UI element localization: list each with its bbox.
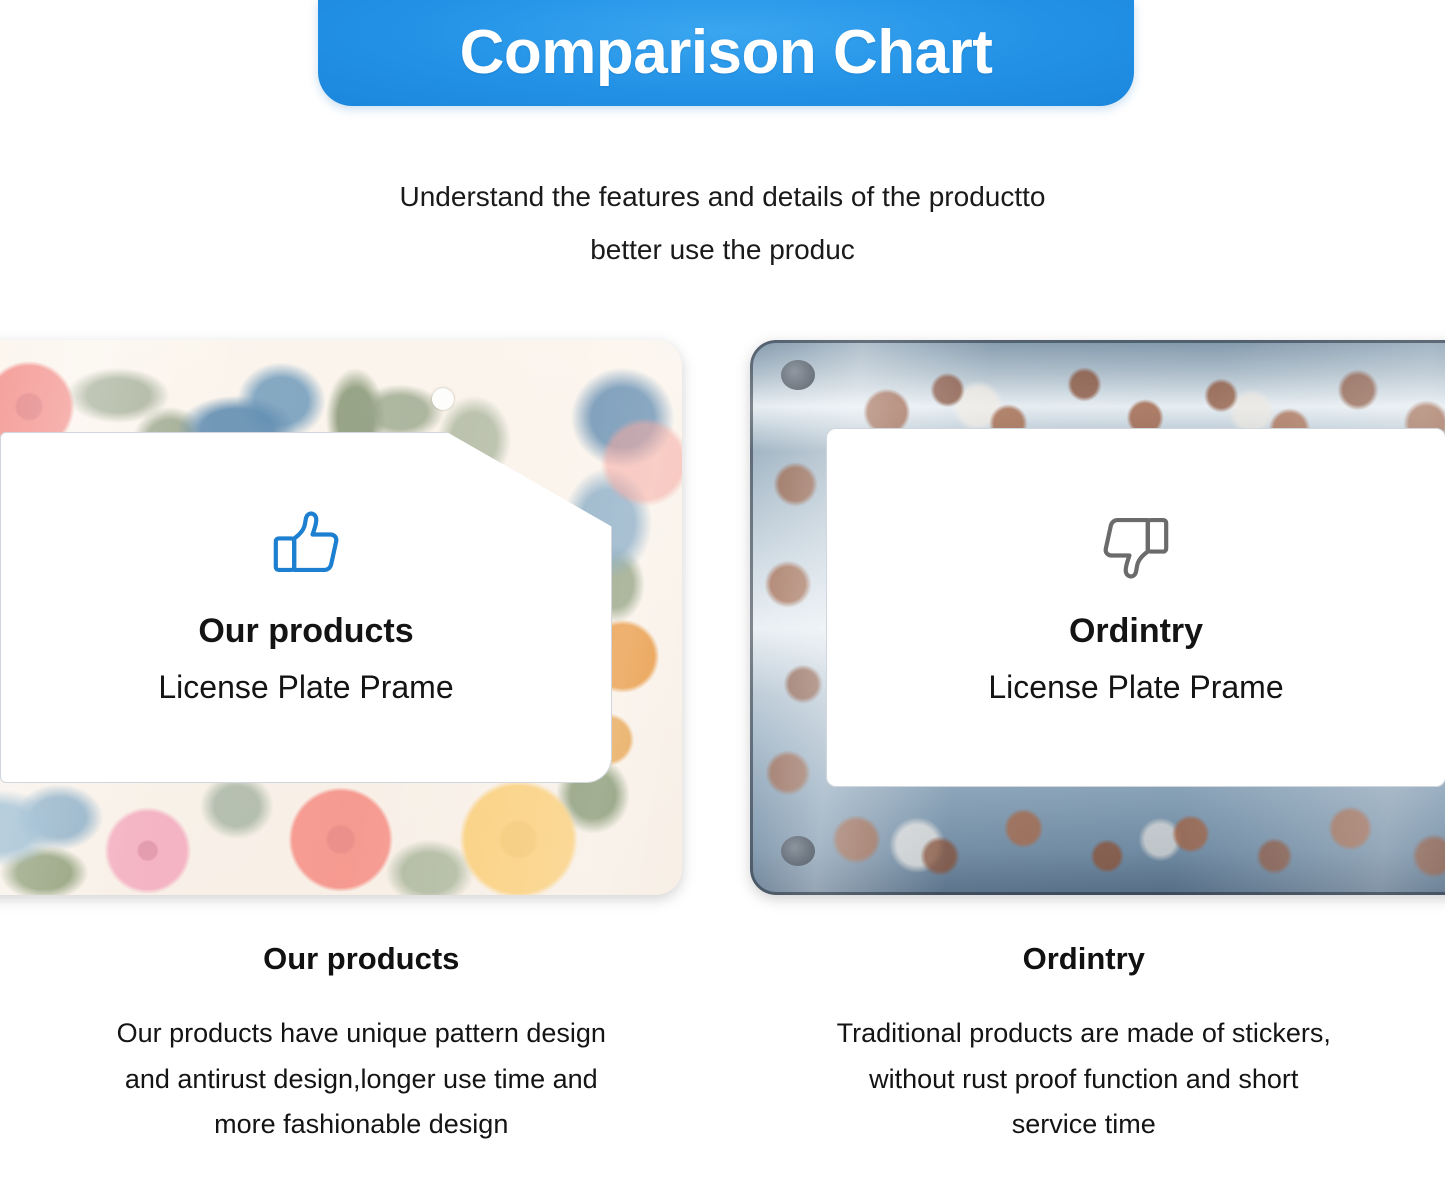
detail-line: Our products have unique pattern design	[26, 1011, 697, 1056]
verdict-block-ordinary: Ordintry License Plate Prame	[826, 428, 1445, 787]
title-banner: Comparison Chart	[318, 0, 1134, 106]
verdict-title-ordinary: Ordintry	[1069, 611, 1203, 652]
product-comparison-images: Our products License Plate Prame Ordintr…	[0, 330, 1445, 900]
subtitle-line-2: better use the produc	[0, 223, 1445, 276]
screw-boss-top-left-icon	[781, 360, 815, 390]
detail-line: more fashionable design	[26, 1102, 697, 1147]
page-subtitle: Understand the features and details of t…	[0, 170, 1445, 276]
detail-line: and antirust design,longer use time and	[26, 1057, 697, 1102]
plate-opening-left: Our products License Plate Prame	[0, 432, 612, 783]
detail-body-ordinary: Traditional products are made of sticker…	[749, 1011, 1420, 1147]
detail-column-ordinary: Ordintry Traditional products are made o…	[723, 940, 1445, 1178]
detail-line: Traditional products are made of sticker…	[749, 1011, 1420, 1056]
page-title: Comparison Chart	[460, 22, 993, 84]
detail-column-our-products: Our products Our products have unique pa…	[0, 940, 723, 1178]
title-banner-pill: Comparison Chart	[318, 0, 1134, 106]
detail-line: without rust proof function and short	[749, 1057, 1420, 1102]
comparison-detail-columns: Our products Our products have unique pa…	[0, 940, 1445, 1178]
screw-hole-icon	[432, 388, 454, 410]
verdict-title-ours: Our products	[198, 611, 413, 652]
verdict-subtitle-ours: License Plate Prame	[158, 668, 453, 706]
plate-opening-right: Ordintry License Plate Prame	[826, 428, 1445, 787]
thumbs-up-icon	[264, 503, 348, 587]
verdict-block-ours: Our products License Plate Prame	[0, 432, 612, 783]
detail-heading-ours: Our products	[26, 940, 697, 977]
screw-boss-bottom-left-icon	[781, 836, 815, 866]
subtitle-line-1: Understand the features and details of t…	[0, 170, 1445, 223]
verdict-subtitle-ordinary: License Plate Prame	[988, 668, 1283, 706]
detail-line: service time	[749, 1102, 1420, 1147]
product-image-ordinary-rusty-frame: Ordintry License Plate Prame	[750, 340, 1445, 895]
product-image-our-floral-frame: Our products License Plate Prame	[0, 340, 682, 895]
thumbs-down-icon	[1094, 503, 1178, 587]
detail-body-ours: Our products have unique pattern design …	[26, 1011, 697, 1147]
detail-heading-ordinary: Ordintry	[749, 940, 1420, 977]
